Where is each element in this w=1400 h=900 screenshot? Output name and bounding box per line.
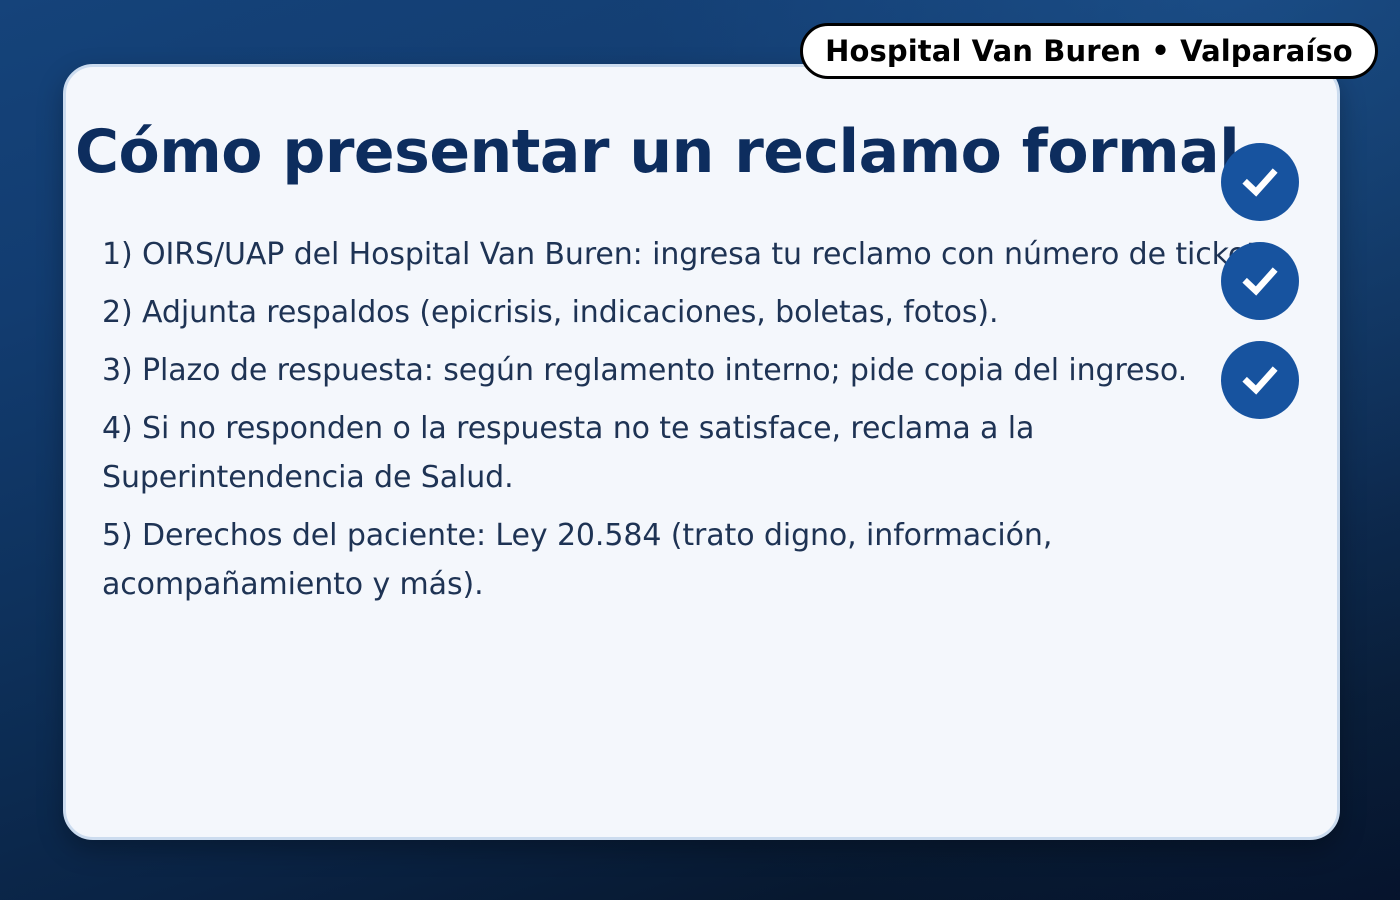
steps-list: 1) OIRS/UAP del Hospital Van Buren: ingr…	[102, 230, 1282, 609]
page-title: Cómo presentar un reclamo formal	[75, 117, 1335, 187]
check-icon	[1236, 158, 1284, 206]
header-location-badge: Hospital Van Buren • Valparaíso	[800, 23, 1378, 79]
list-item: 1) OIRS/UAP del Hospital Van Buren: ingr…	[102, 230, 1282, 279]
list-item: 4) Si no responden o la respuesta no te …	[102, 404, 1282, 502]
header-location-badge-label: Hospital Van Buren • Valparaíso	[825, 34, 1353, 68]
check-badge-2	[1221, 242, 1299, 320]
list-item: 3) Plazo de respuesta: según reglamento …	[102, 346, 1282, 395]
list-item: 5) Derechos del paciente: Ley 20.584 (tr…	[102, 511, 1282, 609]
slide-canvas: Hospital Van Buren • Valparaíso Cómo pre…	[0, 0, 1400, 900]
list-item: 2) Adjunta respaldos (epicrisis, indicac…	[102, 288, 1282, 337]
check-icon	[1236, 257, 1284, 305]
check-icon	[1236, 356, 1284, 404]
check-badge-3	[1221, 341, 1299, 419]
check-badge-1	[1221, 143, 1299, 221]
content-card: Cómo presentar un reclamo formal 1) OIRS…	[63, 64, 1340, 840]
